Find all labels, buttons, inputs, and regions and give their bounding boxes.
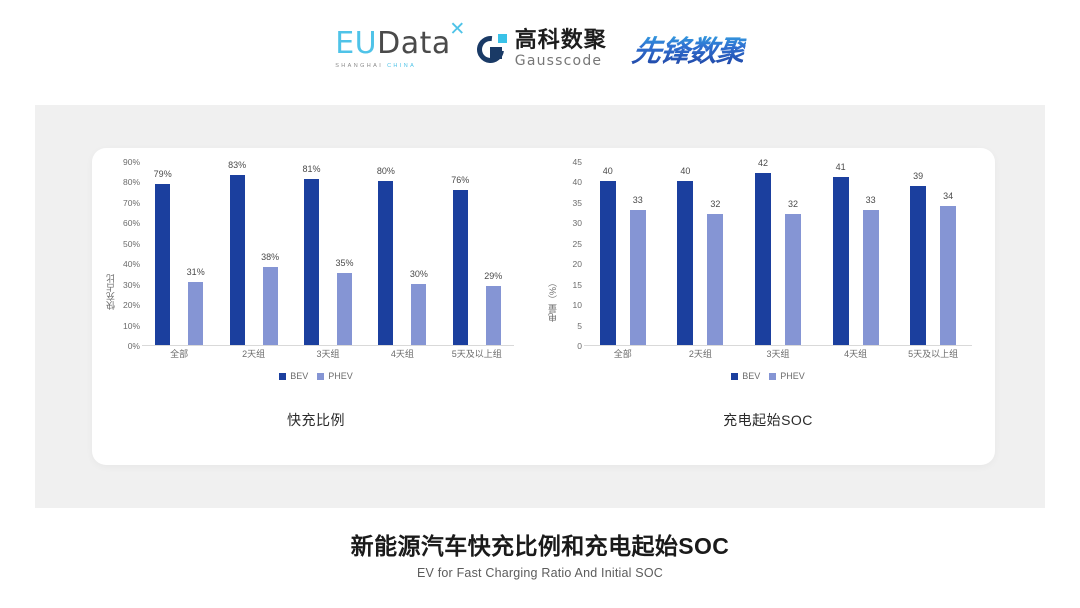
bar-value-label: 40 xyxy=(603,167,613,176)
legend-item-bev[interactable]: BEV xyxy=(731,372,760,381)
bar-group: 4232 xyxy=(739,162,817,345)
bar-bev: 42 xyxy=(755,173,771,345)
bar-bev: 41 xyxy=(833,177,849,345)
evdata-tagline-country: CHINA xyxy=(387,63,416,69)
x-tick-label: 2天组 xyxy=(242,350,265,359)
bar-bev: 76% xyxy=(453,190,468,345)
y-tick-label: 0% xyxy=(128,342,140,351)
legend-left: BEVPHEV xyxy=(106,372,526,381)
gausscode-text: 高科数聚 Gausscode xyxy=(515,30,607,68)
x-tick-label: 3天组 xyxy=(316,350,339,359)
evdata-data-text: Data xyxy=(377,26,451,61)
x-tick-label: 4天组 xyxy=(844,350,867,359)
y-axis-ticks-left: 0%10%20%30%40%50%60%70%80%90% xyxy=(106,162,140,346)
y-axis-ticks-right: 051015202530354045 xyxy=(548,162,582,346)
page-title: 新能源汽车快充比例和充电起始SOC xyxy=(0,532,1080,562)
evdata-tagline: SHANGHAI CHINA xyxy=(335,63,416,69)
bar-value-label: 32 xyxy=(788,200,798,209)
x-tick-label: 4天组 xyxy=(391,350,414,359)
bar-phev: 32 xyxy=(785,214,801,345)
bar-value-label: 33 xyxy=(866,196,876,205)
plot-area-right: 40334032423241333934 xyxy=(584,162,972,346)
legend-item-phev[interactable]: PHEV xyxy=(317,372,353,381)
x-tick-label: 全部 xyxy=(614,350,632,359)
bar-group: 83%38% xyxy=(216,162,290,345)
bar-bev: 83% xyxy=(230,175,245,345)
y-tick-label: 35 xyxy=(573,199,582,208)
x-tick-label: 5天及以上组 xyxy=(452,350,502,359)
y-tick-label: 10% xyxy=(123,321,140,330)
y-tick-label: 40 xyxy=(573,178,582,187)
x-tick-label: 2天组 xyxy=(689,350,712,359)
y-tick-label: 20 xyxy=(573,260,582,269)
bar-group: 4133 xyxy=(817,162,895,345)
y-tick-label: 50% xyxy=(123,240,140,249)
legend-label: PHEV xyxy=(328,372,353,381)
x-tick-label: 全部 xyxy=(170,350,188,359)
legend-swatch-icon xyxy=(279,373,286,380)
y-tick-label: 30 xyxy=(573,219,582,228)
x-tick-label: 3天组 xyxy=(766,350,789,359)
bar-value-label: 33 xyxy=(633,196,643,205)
gausscode-mark-icon xyxy=(477,34,508,65)
bar-group: 76%29% xyxy=(440,162,514,345)
bar-group: 4033 xyxy=(584,162,662,345)
y-tick-label: 70% xyxy=(123,199,140,208)
bar-phev: 35% xyxy=(337,273,352,345)
legend-item-phev[interactable]: PHEV xyxy=(769,372,805,381)
legend-swatch-icon xyxy=(317,373,324,380)
y-tick-label: 5 xyxy=(577,321,582,330)
y-tick-label: 15 xyxy=(573,280,582,289)
bar-phev: 32 xyxy=(707,214,723,345)
legend-label: BEV xyxy=(742,372,760,381)
bar-value-label: 31% xyxy=(187,268,205,277)
y-tick-label: 80% xyxy=(123,178,140,187)
footer: 新能源汽车快充比例和充电起始SOC EV for Fast Charging R… xyxy=(0,532,1080,580)
legend-item-bev[interactable]: BEV xyxy=(279,372,308,381)
y-tick-label: 30% xyxy=(123,280,140,289)
y-tick-label: 20% xyxy=(123,301,140,310)
logo-bar: EUData ✕ SHANGHAI CHINA 高科数聚 Gausscode 先… xyxy=(0,18,1080,80)
legend-right: BEVPHEV xyxy=(548,372,988,381)
chart-caption-left: 快充比例 xyxy=(106,410,526,430)
gausscode-square-shape xyxy=(490,47,502,59)
gausscode-logo: 高科数聚 Gausscode xyxy=(477,30,607,68)
y-tick-label: 40% xyxy=(123,260,140,269)
page-subtitle: EV for Fast Charging Ratio And Initial S… xyxy=(0,566,1080,580)
bar-value-label: 29% xyxy=(484,272,502,281)
evdata-logo: EUData ✕ SHANGHAI CHINA xyxy=(335,29,451,69)
bar-phev: 31% xyxy=(188,282,203,345)
bar-value-label: 34 xyxy=(943,192,953,201)
bar-group: 3934 xyxy=(894,162,972,345)
y-tick-label: 45 xyxy=(573,158,582,167)
bar-bev: 79% xyxy=(155,184,170,346)
evdata-tagline-city: SHANGHAI xyxy=(335,63,387,69)
page-root: EUData ✕ SHANGHAI CHINA 高科数聚 Gausscode 先… xyxy=(0,0,1080,608)
bar-value-label: 42 xyxy=(758,159,768,168)
bar-phev: 34 xyxy=(940,206,956,345)
xianfeng-logo: 先锋数聚 xyxy=(629,28,748,70)
bar-value-label: 39 xyxy=(913,172,923,181)
bar-group: 80%30% xyxy=(365,162,439,345)
bar-value-label: 32 xyxy=(710,200,720,209)
bar-phev: 30% xyxy=(411,284,426,345)
x-axis-labels-right: 全部2天组3天组4天组5天及以上组 xyxy=(584,350,972,366)
bar-bev: 81% xyxy=(304,179,319,345)
bar-value-label: 80% xyxy=(377,167,395,176)
bar-bev: 40 xyxy=(600,181,616,345)
bar-value-label: 40 xyxy=(680,167,690,176)
chart-caption-right: 充电起始SOC xyxy=(548,410,988,430)
y-tick-label: 0 xyxy=(577,342,582,351)
bar-phev: 29% xyxy=(486,286,501,345)
bar-phev: 33 xyxy=(630,210,646,345)
legend-label: PHEV xyxy=(780,372,805,381)
gausscode-accent-square-shape xyxy=(498,34,507,43)
legend-swatch-icon xyxy=(769,373,776,380)
x-mark-icon: ✕ xyxy=(449,20,465,39)
bar-value-label: 83% xyxy=(228,161,246,170)
y-tick-label: 10 xyxy=(573,301,582,310)
bar-bev: 40 xyxy=(677,181,693,345)
bar-value-label: 41 xyxy=(836,163,846,172)
bar-value-label: 38% xyxy=(261,253,279,262)
legend-swatch-icon xyxy=(731,373,738,380)
plot-area-left: 79%31%83%38%81%35%80%30%76%29% xyxy=(142,162,514,346)
legend-label: BEV xyxy=(290,372,308,381)
bar-value-label: 30% xyxy=(410,270,428,279)
bar-bev: 39 xyxy=(910,186,926,345)
x-tick-label: 5天及以上组 xyxy=(908,350,958,359)
y-tick-label: 90% xyxy=(123,158,140,167)
evdata-wordmark: EUData ✕ xyxy=(335,29,451,59)
bar-group: 4032 xyxy=(662,162,740,345)
bar-value-label: 76% xyxy=(451,176,469,185)
y-tick-label: 25 xyxy=(573,240,582,249)
gausscode-chinese-name: 高科数聚 xyxy=(515,30,607,52)
bar-group: 79%31% xyxy=(142,162,216,345)
y-tick-label: 60% xyxy=(123,219,140,228)
bar-value-label: 81% xyxy=(302,165,320,174)
bar-phev: 38% xyxy=(263,267,278,345)
bar-phev: 33 xyxy=(863,210,879,345)
bar-group: 81%35% xyxy=(291,162,365,345)
evdata-ev-text: EU xyxy=(335,26,377,61)
gausscode-english-name: Gausscode xyxy=(515,54,607,68)
bar-value-label: 79% xyxy=(154,170,172,179)
bar-value-label: 35% xyxy=(335,259,353,268)
x-axis-labels-left: 全部2天组3天组4天组5天及以上组 xyxy=(142,350,514,366)
bar-bev: 80% xyxy=(378,181,393,345)
